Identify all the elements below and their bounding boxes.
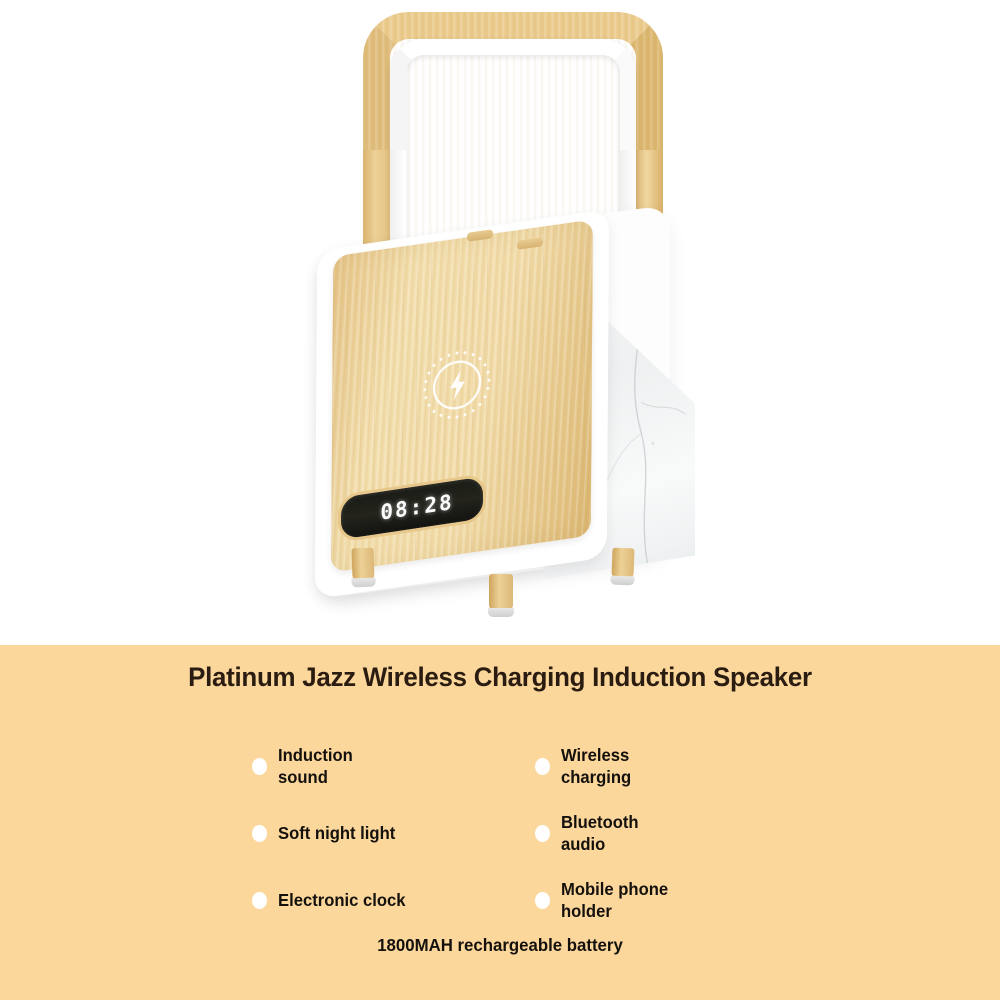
- feature-label: Bluetooth audio: [561, 812, 639, 855]
- speaker-leg-front: [489, 574, 513, 610]
- feature-item-soft-night-light: Soft night light: [252, 800, 535, 867]
- feature-info-panel: Platinum Jazz Wireless Charging Inductio…: [0, 645, 1000, 1000]
- feature-label: Induction sound: [278, 745, 353, 788]
- bullet-dot-icon: [535, 758, 550, 775]
- feature-item-electronic-clock: Electronic clock: [252, 867, 535, 934]
- clock-time-value: 08:28: [380, 490, 453, 525]
- bullet-dot-icon: [252, 758, 267, 775]
- battery-note: 1800MAH rechargeable battery: [20, 935, 980, 956]
- wireless-charging-icon: [416, 338, 498, 432]
- feature-list: Induction sound Wireless charging Soft n…: [252, 733, 812, 934]
- bullet-dot-icon: [535, 825, 550, 842]
- speaker-leg-right: [611, 548, 634, 579]
- feature-item-induction-sound: Induction sound: [252, 733, 535, 800]
- bullet-dot-icon: [252, 892, 267, 909]
- product-photo: 08:28: [0, 0, 1000, 645]
- feature-label: Soft night light: [278, 823, 395, 844]
- page-title: Platinum Jazz Wireless Charging Inductio…: [20, 662, 980, 693]
- bullet-dot-icon: [535, 892, 550, 909]
- feature-item-mobile-phone-holder: Mobile phone holder: [535, 867, 812, 934]
- feature-label: Mobile phone holder: [561, 879, 668, 922]
- feature-label: Wireless charging: [561, 745, 631, 788]
- bullet-dot-icon: [252, 825, 267, 842]
- feature-label: Electronic clock: [278, 890, 406, 911]
- speaker-leg-left: [351, 548, 374, 581]
- feature-item-bluetooth-audio: Bluetooth audio: [535, 800, 812, 867]
- feature-item-wireless-charging: Wireless charging: [535, 733, 812, 800]
- product-illustration: 08:28: [0, 0, 1000, 645]
